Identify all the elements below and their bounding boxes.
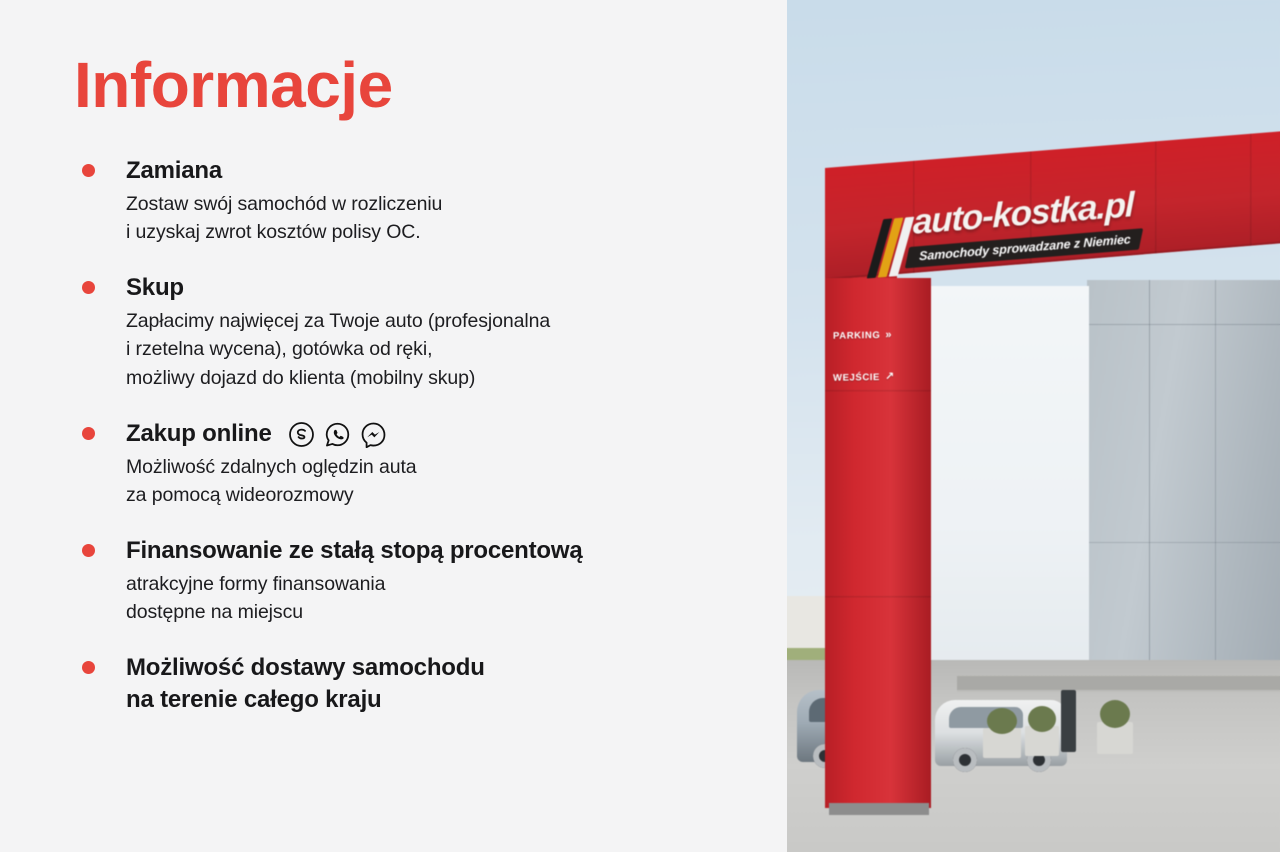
glass-reveal-panel	[931, 286, 1089, 686]
bullet-dot-icon	[82, 427, 95, 440]
messenger-icon[interactable]	[360, 421, 387, 448]
list-item-heading: Finansowanie ze stałą stopą procentową	[126, 535, 787, 567]
list-item-heading-text: Zakup online	[126, 418, 272, 450]
pillar-sign-wejscie-label: WEJŚCIE	[833, 372, 880, 384]
list-item-heading-text: Możliwość dostawy samochodu na terenie c…	[126, 652, 485, 715]
bullet-dot-icon	[82, 281, 95, 294]
pillar-sign-wejscie: WEJŚCIE ↗	[833, 371, 925, 384]
pillar-sign-parking-label: PARKING	[833, 330, 880, 342]
whatsapp-icon[interactable]	[324, 421, 351, 448]
chat-icon-group	[288, 421, 387, 448]
skype-icon[interactable]	[288, 421, 315, 448]
bullet-dot-icon	[82, 661, 95, 674]
list-item-finansowanie: Finansowanie ze stałą stopą procentową a…	[82, 535, 787, 626]
list-item-zakup-online: Zakup online	[82, 418, 787, 509]
information-list: Zamiana Zostaw swój samochód w rozliczen…	[74, 155, 787, 715]
list-item-heading-text: Skup	[126, 272, 184, 304]
list-item-heading: Skup	[126, 272, 787, 304]
list-item-heading: Zakup online	[126, 418, 787, 450]
shrub-1	[987, 708, 1017, 734]
list-item-skup: Skup Zapłacimy najwięcej za Twoje auto (…	[82, 272, 787, 391]
pillar-sign-group: PARKING » WEJŚCIE ↗	[833, 330, 925, 414]
list-item-body: Możliwość zdalnych oględzin auta za pomo…	[126, 453, 787, 510]
parking-arrow-icon: »	[885, 330, 892, 341]
bullet-dot-icon	[82, 544, 95, 557]
pillar-sign-parking: PARKING »	[833, 329, 925, 342]
shrub-3	[1100, 700, 1130, 728]
page-title: Informacje	[74, 52, 787, 119]
bollard	[1061, 690, 1076, 752]
slide-root: Informacje Zamiana Zostaw swój samochód …	[0, 0, 1280, 852]
list-item-heading: Zamiana	[126, 155, 787, 187]
car-wheel	[953, 748, 977, 772]
list-item-dostawa: Możliwość dostawy samochodu na terenie c…	[82, 652, 787, 715]
pillar-base	[829, 803, 929, 815]
bullet-dot-icon	[82, 164, 95, 177]
list-item-heading: Możliwość dostawy samochodu na terenie c…	[126, 652, 787, 715]
kerb-edge	[957, 676, 1280, 692]
info-panel: Informacje Zamiana Zostaw swój samochód …	[0, 0, 787, 852]
list-item-zamiana: Zamiana Zostaw swój samochód w rozliczen…	[82, 155, 787, 246]
list-item-heading-text: Finansowanie ze stałą stopą procentową	[126, 535, 583, 567]
dealership-photo: PARKING » WEJŚCIE ↗ auto-kostka.pl Samoc…	[787, 0, 1280, 852]
shrub-2	[1028, 706, 1056, 732]
list-item-body: Zapłacimy najwięcej za Twoje auto (profe…	[126, 307, 787, 392]
list-item-body: Zostaw swój samochód w rozliczeniu i uzy…	[126, 190, 787, 247]
wejscie-arrow-icon: ↗	[885, 372, 895, 383]
list-item-body: atrakcyjne formy finansowania dostępne n…	[126, 570, 787, 627]
list-item-heading-text: Zamiana	[126, 155, 222, 187]
